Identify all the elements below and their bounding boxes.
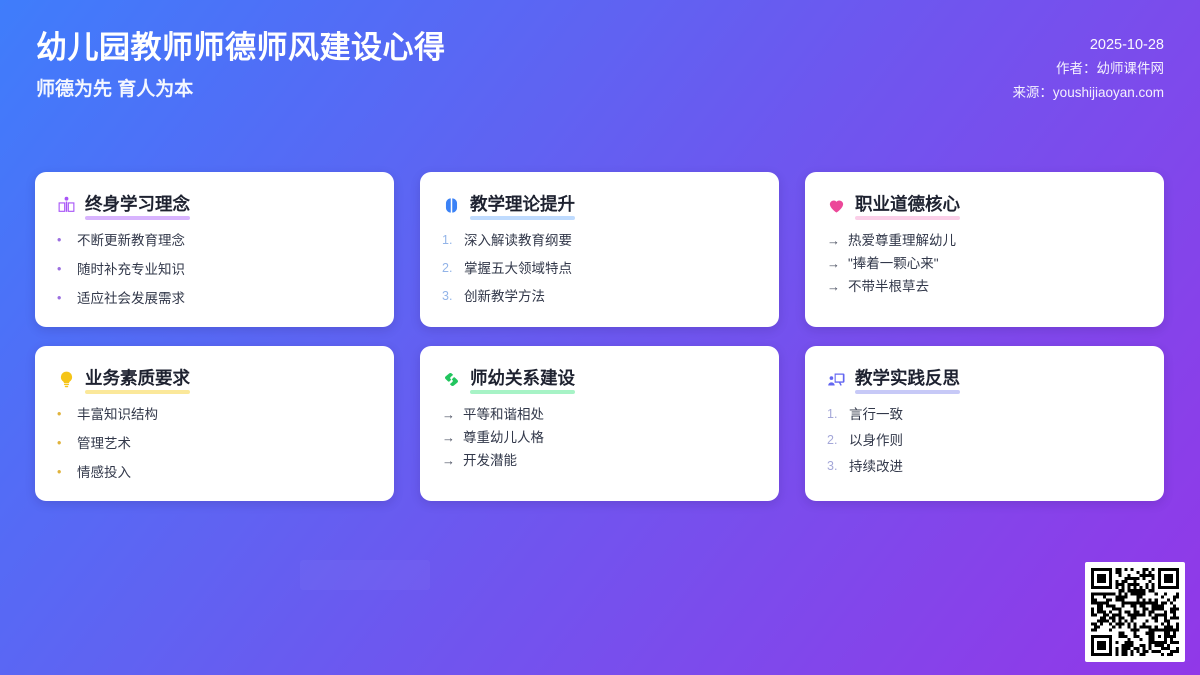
list-marker: → bbox=[442, 452, 456, 469]
qr-code-image bbox=[1091, 568, 1179, 656]
header-title-group: 幼儿园教师师德师风建设心得 师德为先 育人为本 bbox=[36, 26, 446, 105]
list-item: •情感投入 bbox=[57, 464, 372, 481]
list-item: •管理艺术 bbox=[57, 435, 372, 452]
card-lifelong-learning[interactable]: 终身学习理念•不断更新教育理念•随时补充专业知识•适应社会发展需求 bbox=[35, 172, 394, 327]
card-header: 终身学习理念 bbox=[57, 193, 372, 218]
list-item-text: 随时补充专业知识 bbox=[77, 261, 185, 278]
list-marker: • bbox=[57, 232, 69, 249]
list-marker: • bbox=[57, 261, 69, 278]
list-marker: → bbox=[442, 406, 456, 423]
card-teaching-theory[interactable]: 教学理论提升1.深入解读教育纲要2.掌握五大领域特点3.创新教学方法 bbox=[420, 172, 779, 327]
list-item-text: 以身作则 bbox=[849, 432, 903, 449]
list-item-text: 言行一致 bbox=[849, 406, 903, 423]
card-teacher-child-relationship[interactable]: 师幼关系建设→平等和谐相处→尊重幼儿人格→开发潜能 bbox=[420, 346, 779, 501]
list-item-text: 深入解读教育纲要 bbox=[464, 232, 572, 249]
list-marker: → bbox=[827, 255, 841, 272]
list-item-text: "捧着一颗心来" bbox=[848, 255, 939, 272]
list-item-text: 尊重幼儿人格 bbox=[463, 429, 544, 446]
list-item: 1.言行一致 bbox=[827, 406, 1142, 423]
handshake-icon bbox=[442, 370, 461, 389]
list-item: →开发潜能 bbox=[442, 452, 757, 469]
qr-code[interactable] bbox=[1085, 562, 1185, 662]
list-item: 1.深入解读教育纲要 bbox=[442, 232, 757, 249]
list-item-text: 丰富知识结构 bbox=[77, 406, 158, 423]
card-title: 终身学习理念 bbox=[85, 193, 190, 218]
list-item: →不带半根草去 bbox=[827, 278, 1142, 295]
card-list: 1.言行一致2.以身作则3.持续改进 bbox=[827, 406, 1142, 475]
card-header: 教学理论提升 bbox=[442, 193, 757, 218]
list-item: •随时补充专业知识 bbox=[57, 261, 372, 278]
list-item-text: 掌握五大领域特点 bbox=[464, 260, 572, 277]
lightbulb-icon bbox=[57, 370, 76, 389]
list-item-text: 情感投入 bbox=[77, 464, 131, 481]
list-item: •适应社会发展需求 bbox=[57, 290, 372, 307]
list-item-text: 不带半根草去 bbox=[848, 278, 929, 295]
page-subtitle: 师德为先 育人为本 bbox=[36, 75, 446, 105]
page-header: 幼儿园教师师德师风建设心得 师德为先 育人为本 2025-10-28 作者：幼师… bbox=[0, 0, 1200, 150]
card-title: 业务素质要求 bbox=[85, 367, 190, 392]
presentation-person-icon bbox=[827, 370, 846, 389]
list-marker: → bbox=[827, 278, 841, 295]
list-item: 3.创新教学方法 bbox=[442, 288, 757, 305]
header-meta-group: 2025-10-28 作者：幼师课件网 来源：youshijiaoyan.com bbox=[1012, 33, 1164, 105]
list-marker: • bbox=[57, 464, 69, 481]
list-marker: 2. bbox=[442, 260, 456, 277]
list-item-text: 创新教学方法 bbox=[464, 288, 545, 305]
list-item: 2.以身作则 bbox=[827, 432, 1142, 449]
list-marker: 1. bbox=[827, 406, 841, 423]
list-item: →"捧着一颗心来" bbox=[827, 255, 1142, 272]
card-header: 师幼关系建设 bbox=[442, 367, 757, 392]
list-marker: 3. bbox=[827, 458, 841, 475]
list-marker: 1. bbox=[442, 232, 456, 249]
list-marker: 2. bbox=[827, 432, 841, 449]
card-list: 1.深入解读教育纲要2.掌握五大领域特点3.创新教学方法 bbox=[442, 232, 757, 305]
list-item: →平等和谐相处 bbox=[442, 406, 757, 423]
card-header: 职业道德核心 bbox=[827, 193, 1142, 218]
list-item-text: 适应社会发展需求 bbox=[77, 290, 185, 307]
publish-date: 2025-10-28 bbox=[1012, 33, 1164, 57]
card-title: 职业道德核心 bbox=[855, 193, 960, 218]
card-teaching-reflection[interactable]: 教学实践反思1.言行一致2.以身作则3.持续改进 bbox=[805, 346, 1164, 501]
list-marker: • bbox=[57, 406, 69, 423]
list-marker: 3. bbox=[442, 288, 456, 305]
source-label: 来源：youshijiaoyan.com bbox=[1012, 81, 1164, 105]
list-item-text: 热爱尊重理解幼儿 bbox=[848, 232, 956, 249]
heart-icon bbox=[827, 196, 846, 215]
card-list: →平等和谐相处→尊重幼儿人格→开发潜能 bbox=[442, 406, 757, 469]
list-item: 2.掌握五大领域特点 bbox=[442, 260, 757, 277]
list-marker: • bbox=[57, 290, 69, 307]
list-item-text: 开发潜能 bbox=[463, 452, 517, 469]
list-item-text: 平等和谐相处 bbox=[463, 406, 544, 423]
card-professional-quality[interactable]: 业务素质要求•丰富知识结构•管理艺术•情感投入 bbox=[35, 346, 394, 501]
list-item: •丰富知识结构 bbox=[57, 406, 372, 423]
list-marker: → bbox=[442, 429, 456, 446]
card-title: 教学实践反思 bbox=[855, 367, 960, 392]
brain-icon bbox=[442, 196, 461, 215]
page-title: 幼儿园教师师德师风建设心得 bbox=[36, 26, 446, 70]
card-grid: 终身学习理念•不断更新教育理念•随时补充专业知识•适应社会发展需求教学理论提升1… bbox=[35, 172, 1165, 501]
card-header: 业务素质要求 bbox=[57, 367, 372, 392]
card-professional-ethics[interactable]: 职业道德核心→热爱尊重理解幼儿→"捧着一颗心来"→不带半根草去 bbox=[805, 172, 1164, 327]
list-item-text: 管理艺术 bbox=[77, 435, 131, 452]
card-list: •丰富知识结构•管理艺术•情感投入 bbox=[57, 406, 372, 481]
list-item: →尊重幼儿人格 bbox=[442, 429, 757, 446]
author-label: 作者：幼师课件网 bbox=[1012, 57, 1164, 81]
open-book-icon bbox=[57, 196, 76, 215]
background-decoration bbox=[300, 560, 430, 590]
list-item-text: 持续改进 bbox=[849, 458, 903, 475]
list-marker: → bbox=[827, 232, 841, 249]
list-marker: • bbox=[57, 435, 69, 452]
list-item: 3.持续改进 bbox=[827, 458, 1142, 475]
list-item: →热爱尊重理解幼儿 bbox=[827, 232, 1142, 249]
list-item-text: 不断更新教育理念 bbox=[77, 232, 185, 249]
card-list: →热爱尊重理解幼儿→"捧着一颗心来"→不带半根草去 bbox=[827, 232, 1142, 295]
card-list: •不断更新教育理念•随时补充专业知识•适应社会发展需求 bbox=[57, 232, 372, 307]
card-title: 教学理论提升 bbox=[470, 193, 575, 218]
card-header: 教学实践反思 bbox=[827, 367, 1142, 392]
list-item: •不断更新教育理念 bbox=[57, 232, 372, 249]
card-title: 师幼关系建设 bbox=[470, 367, 575, 392]
